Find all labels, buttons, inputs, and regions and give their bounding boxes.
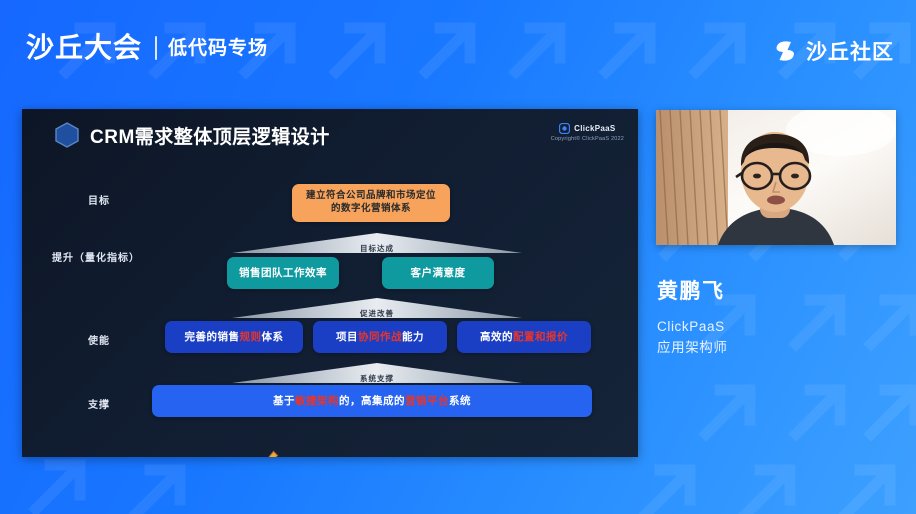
enable-box-1-text: 完善的销售规则体系 <box>185 330 284 344</box>
metric-box-1[interactable]: 销售团队工作效率 <box>227 257 339 289</box>
presentation-slide: CRM需求整体顶层逻辑设计 ClickPaaS Copyright© Click… <box>22 109 638 457</box>
vendor-copyright: Copyright© ClickPaaS 2022 <box>551 136 624 142</box>
pencil-cursor-icon <box>261 450 279 457</box>
org-logo: 沙丘社区 <box>772 36 894 66</box>
slide-title-row: CRM需求整体顶层逻辑设计 <box>54 121 330 149</box>
enable-box-2-text: 项目协同作战能力 <box>336 330 424 344</box>
vendor-logo: ClickPaaS Copyright© ClickPaaS 2022 <box>551 123 624 142</box>
s-swirl-icon <box>772 38 798 64</box>
speaker-role: 应用架构师 <box>657 338 907 359</box>
hexagon-icon <box>54 121 80 149</box>
brand-title: 沙丘大会 <box>26 34 142 62</box>
vendor-name: ClickPaaS <box>574 124 615 133</box>
row-label-metrics: 提升（量化指标） <box>52 249 140 264</box>
row-label-enable: 使能 <box>88 332 110 347</box>
clickpaas-mark-icon <box>559 123 570 134</box>
org-name: 沙丘社区 <box>806 36 894 66</box>
brand-lockup: 沙丘大会 低代码专场 <box>26 34 268 62</box>
row-label-goal: 目标 <box>88 192 110 207</box>
speaker-webcam[interactable] <box>656 110 896 245</box>
metric-box-2[interactable]: 客户满意度 <box>382 257 494 289</box>
slide-title: CRM需求整体顶层逻辑设计 <box>90 122 330 149</box>
connector-system-support-label: 系统支撑 <box>232 373 522 384</box>
support-box[interactable]: 基于敏捷架构的，高集成的营销平台系统 <box>152 385 592 417</box>
connector-system-support: 系统支撑 <box>232 363 522 385</box>
row-label-support: 支撑 <box>88 396 110 411</box>
speaker-name: 黄鹏飞 <box>657 280 907 303</box>
enable-box-1[interactable]: 完善的销售规则体系 <box>165 321 303 353</box>
brand-separator <box>155 36 157 60</box>
enable-box-3[interactable]: 高效的配置和报价 <box>457 321 591 353</box>
connector-goal-achievement-label: 目标达成 <box>232 243 522 254</box>
speaker-company: ClickPaaS <box>657 317 907 338</box>
goal-box-line2: 的数字化营销体系 <box>331 203 411 216</box>
connector-promote-improvement-label: 促进改善 <box>232 308 522 319</box>
support-box-text: 基于敏捷架构的，高集成的营销平台系统 <box>273 394 471 408</box>
goal-box-line1: 建立符合公司品牌和市场定位 <box>306 190 436 203</box>
enable-box-2[interactable]: 项目协同作战能力 <box>313 321 447 353</box>
webinar-stage: 沙丘大会 低代码专场 沙丘社区 CRM需求整体顶层逻辑设计 <box>0 0 916 514</box>
connector-goal-achievement: 目标达成 <box>232 233 522 255</box>
goal-box[interactable]: 建立符合公司品牌和市场定位 的数字化营销体系 <box>292 184 450 222</box>
enable-box-3-text: 高效的配置和报价 <box>480 330 568 344</box>
connector-promote-improvement: 促进改善 <box>232 298 522 320</box>
speaker-info: 黄鹏飞 ClickPaaS 应用架构师 <box>657 280 907 359</box>
brand-subtitle: 低代码专场 <box>168 39 268 58</box>
